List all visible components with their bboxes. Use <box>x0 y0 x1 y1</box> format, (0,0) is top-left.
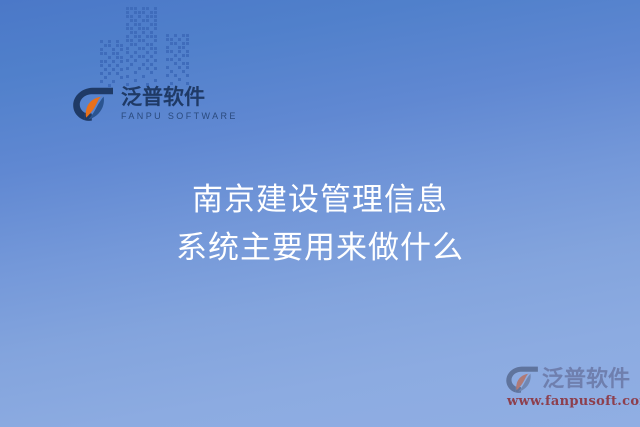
watermark-name-cn: 泛普软件 <box>542 367 630 393</box>
fanpu-logo-mark-icon <box>72 87 114 121</box>
fanpu-logo-mark-watermark-icon <box>505 366 539 393</box>
brand-name-en: FANPU SOFTWARE <box>121 110 238 122</box>
brand-lockup: 泛普软件 FANPU SOFTWARE <box>72 86 238 122</box>
pixel-skyline-icon <box>96 2 196 88</box>
brand-text-block: 泛普软件 FANPU SOFTWARE <box>121 86 238 122</box>
brand-name-cn: 泛普软件 <box>121 86 238 109</box>
page-title-line-1: 南京建设管理信息 <box>0 176 640 224</box>
page-title: 南京建设管理信息 系统主要用来做什么 <box>0 176 640 272</box>
watermark-logo-row: 泛普软件 <box>505 366 635 393</box>
pixel-skyline-graphic <box>96 2 196 88</box>
site-watermark: 泛普软件 www.fanpusoft.com <box>505 366 635 421</box>
poster-canvas: 泛普软件 FANPU SOFTWARE 南京建设管理信息 系统主要用来做什么 泛… <box>0 0 640 427</box>
watermark-url: www.fanpusoft.com <box>507 394 635 410</box>
page-title-line-2: 系统主要用来做什么 <box>0 224 640 272</box>
